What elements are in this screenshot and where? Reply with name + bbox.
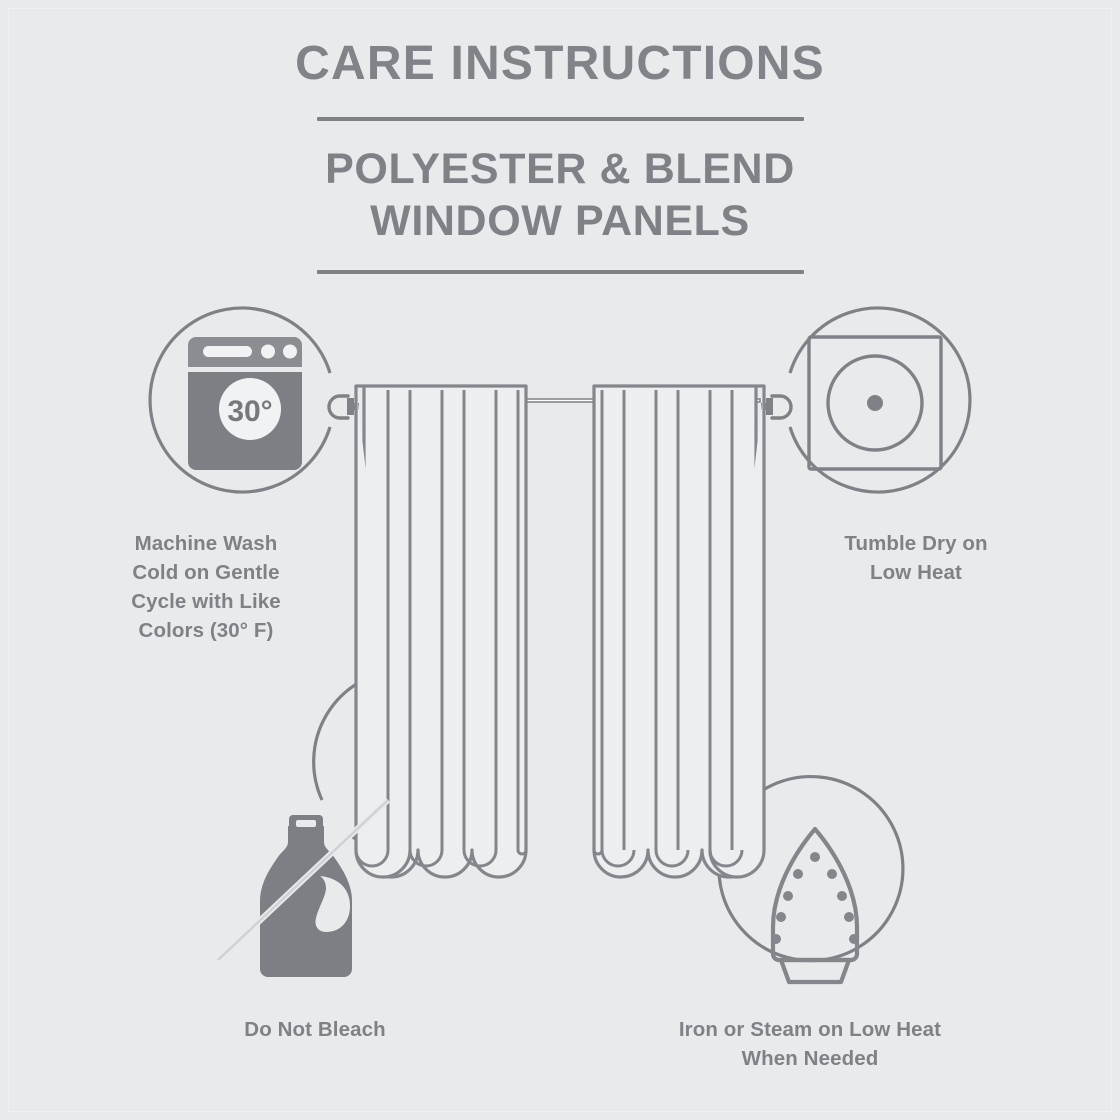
care-instructions-infographic: CARE INSTRUCTIONS POLYESTER & BLEND WIND…	[0, 0, 1120, 1120]
caption-machine-wash: Machine Wash Cold on Gentle Cycle with L…	[72, 529, 340, 645]
curtain-illustration	[329, 386, 791, 877]
wash-temperature-label: 30°	[227, 395, 272, 428]
caption-iron: Iron or Steam on Low Heat When Needed	[600, 1015, 1020, 1073]
curtain-panel-right	[594, 386, 764, 877]
washing-machine-icon: 30°	[188, 337, 302, 470]
caption-tumble-dry-line-1: Tumble Dry on	[844, 532, 987, 555]
caption-iron-line-2: When Needed	[742, 1047, 879, 1070]
caption-tumble-dry: Tumble Dry on Low Heat	[786, 529, 1046, 587]
caption-tumble-dry-line-2: Low Heat	[870, 561, 962, 584]
caption-iron-line-1: Iron or Steam on Low Heat	[679, 1018, 941, 1041]
iron-icon	[771, 829, 859, 982]
caption-machine-wash-line-1: Machine Wash	[135, 532, 278, 555]
caption-machine-wash-line-3: Cycle with Like	[131, 590, 281, 613]
caption-machine-wash-line-2: Cold on Gentle	[132, 561, 279, 584]
caption-do-not-bleach-line-1: Do Not Bleach	[244, 1018, 385, 1041]
no-bleach-bottle-icon	[218, 800, 388, 977]
caption-machine-wash-line-4: Colors (30° F)	[139, 619, 274, 642]
caption-do-not-bleach: Do Not Bleach	[178, 1015, 452, 1044]
tumble-dry-icon	[809, 337, 941, 469]
